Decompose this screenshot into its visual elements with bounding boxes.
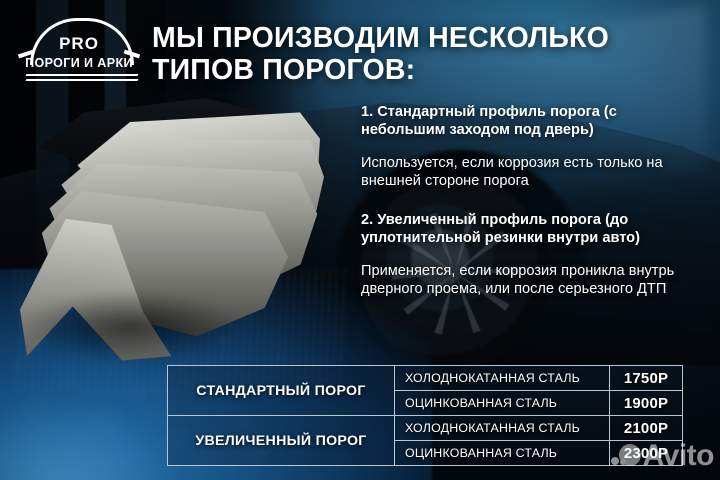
material-label: ОЦИНКОВАННАЯ СТАЛЬ [395,396,609,410]
table-row: ОЦИНКОВАННАЯ СТАЛЬ 2300Р [395,440,682,465]
price-value: 2300Р [609,441,682,465]
copy-block-2-body: Применяется, если коррозия проникла внут… [361,262,701,299]
copy-block-1: 1. Стандартный профиль порога (с небольш… [361,104,701,190]
product-image-sill-panels [8,96,360,364]
product-shadow [18,292,268,362]
page-title: МЫ ПРОИЗВОДИМ НЕСКОЛЬКО ТИПОВ ПОРОГОВ: [152,22,692,87]
price-group-standard: СТАНДАРТНЫЙ ПОРОГ ХОЛОДНОКАТАННАЯ СТАЛЬ … [168,366,682,415]
price-value: 1750Р [609,366,682,390]
brand-logo: PRO ПОРОГИ И АРКИ [14,14,144,80]
material-label: ХОЛОДНОКАТАННАЯ СТАЛЬ [395,371,609,385]
price-group-standard-rows: ХОЛОДНОКАТАННАЯ СТАЛЬ 1750Р ОЦИНКОВАННАЯ… [395,366,682,415]
price-value: 2100Р [609,416,682,440]
price-group-enlarged: УВЕЛИЧЕННЫЙ ПОРОГ ХОЛОДНОКАТАННАЯ СТАЛЬ … [168,415,682,465]
material-label: ХОЛОДНОКАТАННАЯ СТАЛЬ [395,421,609,435]
table-row: ХОЛОДНОКАТАННАЯ СТАЛЬ 2100Р [395,416,682,440]
promo-poster: PRO ПОРОГИ И АРКИ МЫ ПРОИЗВОДИМ НЕСКОЛЬК… [0,0,720,480]
logo-speed-lines-icon [26,74,138,83]
copy-block-1-body: Используется, если коррозия есть только … [361,154,701,191]
copy-block-1-title: 1. Стандартный профиль порога (с небольш… [361,104,701,140]
price-group-standard-label: СТАНДАРТНЫЙ ПОРОГ [168,366,395,415]
logo-title: PRO [14,34,144,54]
price-table: СТАНДАРТНЫЙ ПОРОГ ХОЛОДНОКАТАННАЯ СТАЛЬ … [167,365,683,466]
logo-subtitle: ПОРОГИ И АРКИ [14,56,144,70]
table-row: ОЦИНКОВАННАЯ СТАЛЬ 1900Р [395,390,682,415]
price-group-enlarged-rows: ХОЛОДНОКАТАННАЯ СТАЛЬ 2100Р ОЦИНКОВАННАЯ… [395,416,682,465]
material-label: ОЦИНКОВАННАЯ СТАЛЬ [395,446,609,460]
copy-block-2-title: 2. Увеличенный профиль порога (до уплотн… [361,212,701,248]
table-row: ХОЛОДНОКАТАННАЯ СТАЛЬ 1750Р [395,366,682,390]
copy-column: 1. Стандартный профиль порога (с небольш… [361,104,701,315]
price-value: 1900Р [609,391,682,415]
price-group-enlarged-label: УВЕЛИЧЕННЫЙ ПОРОГ [168,416,395,465]
copy-block-2: 2. Увеличенный профиль порога (до уплотн… [361,212,701,298]
